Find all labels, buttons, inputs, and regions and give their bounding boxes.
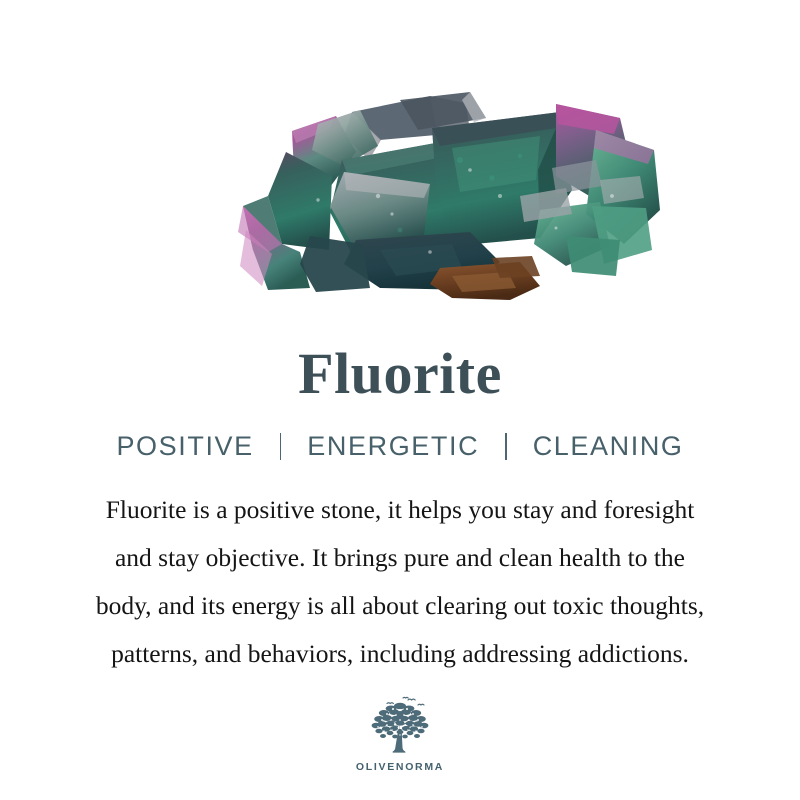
description-line: patterns, and behaviors, including addre… <box>10 630 790 678</box>
keyword-subtitle: POSITIVE ENERGETIC CLEANING <box>116 431 683 462</box>
page-title: Fluorite <box>298 345 502 403</box>
brand-logo: OLIVENORMA <box>356 696 444 773</box>
description-line: and stay objective. It brings pure and c… <box>10 534 790 582</box>
keyword-cleaning: CLEANING <box>533 431 684 462</box>
description-line: Fluorite is a positive stone, it helps y… <box>10 486 790 534</box>
keyword-separator <box>505 433 507 460</box>
keyword-positive: POSITIVE <box>116 431 253 462</box>
brand-name: OLIVENORMA <box>356 761 444 773</box>
description-text: Fluorite is a positive stone, it helps y… <box>10 486 790 678</box>
fluorite-crystal-cluster-image <box>0 0 800 310</box>
description-line: body, and its energy is all about cleari… <box>10 582 790 630</box>
olive-tree-icon <box>363 696 437 758</box>
fluorite-info-card: Fluorite POSITIVE ENERGETIC CLEANING Flu… <box>0 0 800 800</box>
specimen-image-container <box>0 0 800 310</box>
keyword-energetic: ENERGETIC <box>307 431 479 462</box>
keyword-separator <box>280 433 282 460</box>
birds-icon <box>387 697 424 705</box>
